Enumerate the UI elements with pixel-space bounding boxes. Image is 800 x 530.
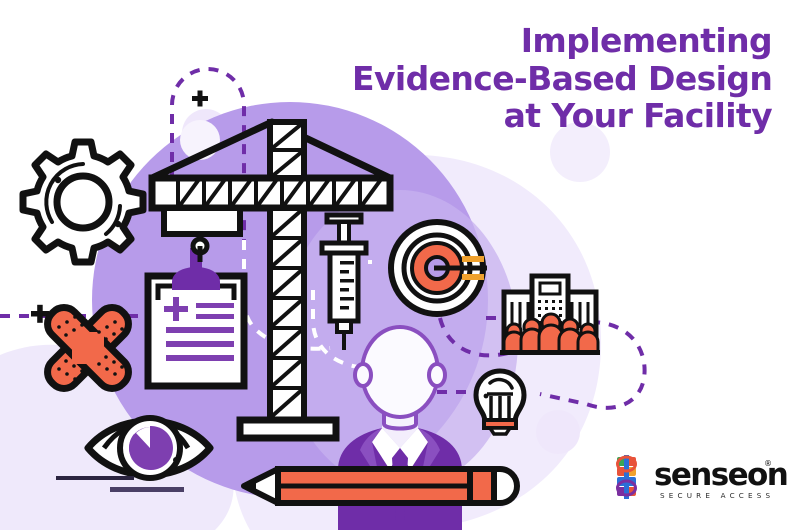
syringe-nozzle [337,321,351,332]
crane-base [240,420,336,438]
pencil-eraser [494,469,517,503]
gear-hole [57,176,109,228]
person-figure [578,324,598,352]
gear-icon [23,142,143,262]
logo-tagline: SECURE ACCESS [660,491,774,500]
bulb-filament [487,394,513,418]
brand-logo[interactable]: senseon ® SECURE ACCESS [612,455,784,507]
pale-circle-b [536,410,580,454]
logo-registered-icon: ® [764,459,772,468]
person-head [362,327,438,417]
lightbulb-icon [476,371,524,434]
headline-line-3: at Your Facility [352,97,772,135]
senseon-mark-icon [612,455,646,503]
plus-sign-top [192,91,208,107]
building-sign [540,283,560,294]
people-baseline [500,350,600,355]
poster-canvas: Implementing Evidence-Based Design at Yo… [0,0,800,530]
eye-motion-line-b [110,487,184,492]
person-ear-left [355,364,371,386]
headline-line-2: Evidence-Based Design [352,60,772,98]
pencil-icon [244,469,517,503]
headline: Implementing Evidence-Based Design at Yo… [352,22,772,135]
bulb-tip [490,428,510,434]
headline-line-1: Implementing [352,22,772,60]
gear-dot-2 [55,177,61,183]
bandage-pad [72,332,104,364]
pencil-ferrule [470,469,494,503]
target-icon [391,222,487,314]
eye-motion-line-a [56,476,134,480]
eye-glint [173,457,179,463]
person-ear-right [429,364,445,386]
gear-dot [115,221,121,227]
crane-trolley [164,208,240,234]
